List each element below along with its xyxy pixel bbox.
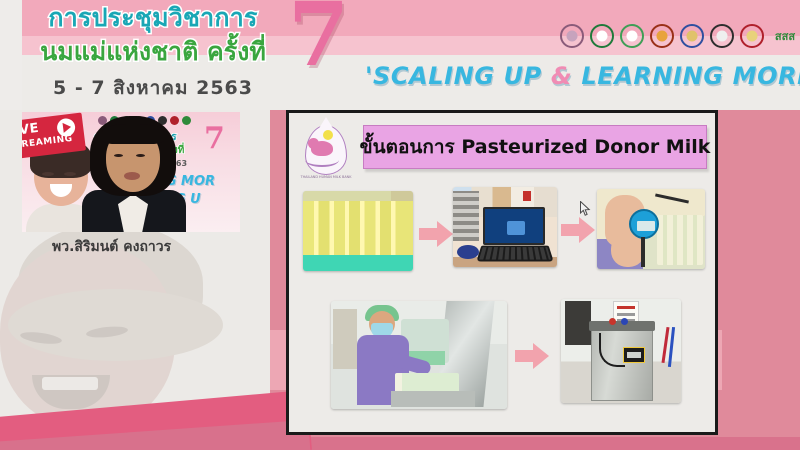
arrow-step4-to-step5 [515,343,549,369]
photo-pasteurizer-machine [561,299,681,403]
conference-date: 5 - 7 สิงหาคม 2563 [18,73,288,103]
live-video-panel[interactable]: การประชุมวิชาการ นมแม่แห่งชาติ ครั้งที่ … [22,112,240,232]
mouse-pointer [580,201,591,217]
tagline-suffix: LEARNING MORE' [572,62,800,90]
speaker-video-figure [84,116,182,232]
presentation-slide: THAILAND HUMAN MILK BANK ขั้นตอนการ Past… [286,110,718,435]
conference-title-line1: การประชุมวิชาการ [18,2,288,34]
photo-temperature-meter-check [597,189,705,269]
conference-edition-number: 7 [288,0,349,78]
tagline-prefix: 'SCALING UP [365,62,551,90]
royal-thai-emblem-logo [680,24,704,48]
department-health-logo [620,24,644,48]
conference-tagline: 'SCALING UP & LEARNING MORE' [365,62,790,90]
slide-title-text: ขั้นตอนการ Pasteurized Donor Milk [360,132,711,162]
arrow-step2-to-step3 [561,217,595,243]
conference-title-block: การประชุมวิชาการ นมแม่แห่งชาติ ครั้งที่ … [18,2,288,103]
tagline-ampersand: & [551,62,573,90]
photo-nurse-loading-pasteurizer [331,301,507,409]
ministry-public-health-logo [590,24,614,48]
university-seal-logo [710,24,734,48]
organization-logos-row: สสส [560,24,800,48]
thai-breastfeeding-foundation-logo [740,24,764,48]
milk-bank-logo-caption: THAILAND HUMAN MILK BANK [299,175,353,179]
background-pink-strip [722,110,800,450]
conference-title-line2: นมแม่แห่งชาติ ครั้งที่ [18,36,288,68]
photo-donor-milk-bottles-storage [303,191,413,271]
royal-college-logo [560,24,584,48]
speaker-name-label: พว.สิริมนต์ คงถาวร [52,236,171,258]
thaihealth-sss-logo: สสส [770,24,800,48]
background-pink-bottom [270,437,800,450]
live-badge-line1: VE [22,121,40,138]
pediatric-society-logo [650,24,674,48]
human-milk-bank-drop-logo: THAILAND HUMAN MILK BANK [299,119,353,179]
photo-laptop-data-recording [453,187,557,267]
slide-screenshot: การประชุมวิชาการ นมแม่แห่งชาติ ครั้งที่ … [0,0,800,450]
slide-title-banner: ขั้นตอนการ Pasteurized Donor Milk [363,125,707,169]
video-poster-number: 7 [204,124,225,154]
process-steps-row-top [289,185,721,280]
arrow-step1-to-step2 [419,221,453,247]
process-steps-row-bottom [289,293,721,418]
